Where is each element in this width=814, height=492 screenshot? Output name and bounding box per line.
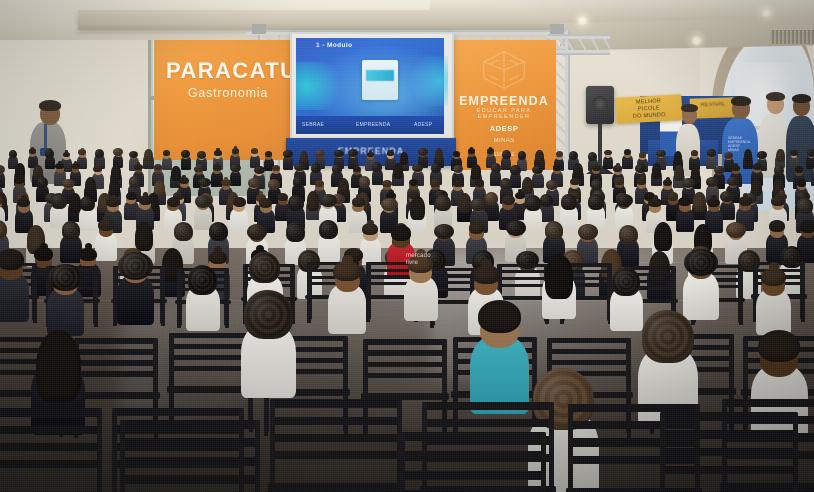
audience-hair [95,149,104,158]
chair-slat [74,371,158,376]
audience-hair [48,264,83,291]
audience-hair [458,193,470,213]
audience-hair [656,150,666,157]
audience-hair [639,152,646,158]
audience-hair [36,330,81,402]
audience-hair [612,267,640,296]
audience-hair [244,290,292,339]
audience-hair-bun [103,215,109,221]
audience-hair [561,194,577,210]
chair-slat [660,466,798,475]
audience-hair [578,224,598,240]
audience-hair [771,196,784,206]
audience-hair-bun [481,259,492,269]
audience-hair [410,196,425,220]
audience-hair-bun [666,177,670,181]
chair-slat [363,373,447,378]
chair-slat [547,349,631,354]
audience-hair-bun [653,195,658,200]
audience-hair [807,149,814,156]
audience-hair [288,195,304,211]
chair-slat [169,344,253,349]
audience-hair [319,220,338,239]
chair-slat [120,457,260,466]
jersey-text-line1: mercado [406,253,431,259]
chair-slat [400,471,546,480]
audience-hair [652,163,662,179]
audience-hair-bun [711,195,716,200]
audience-hair [381,198,398,211]
audience-hair [382,180,392,187]
audience-hair [209,222,228,241]
audience-hair [409,179,419,186]
audience-hair [469,222,485,234]
chair-leg [161,301,165,327]
audience-hair [487,148,494,153]
audience-hair [674,151,683,165]
audience-hair [188,265,217,295]
audience-hair [797,198,813,214]
audience-hair [693,192,705,212]
audience-hair-bun [21,195,26,200]
chair-slat [422,419,554,427]
chair-slat [112,408,244,416]
chair-slat [422,402,554,410]
audience-hair-bun [389,190,393,194]
audience-hair [510,165,520,175]
audience-hair [726,222,746,238]
audience-hair [359,176,370,188]
audience-hair [691,150,698,156]
chair [660,412,798,492]
audience-hair [654,222,672,251]
audience-hair [315,180,325,187]
audience-hair [518,151,527,160]
chair-post [400,432,405,492]
audience-hair [29,148,36,153]
audience-hair [332,164,342,174]
audience-hair [277,193,288,201]
audience-hair [334,150,344,157]
audience-hair [362,223,378,235]
audience-hair [478,300,521,333]
jersey-text-line2: livre [406,260,418,266]
chair-post [568,404,573,492]
audience-hair [254,166,265,175]
chair-leg [225,303,229,329]
audience-hair [790,150,797,156]
audience-hair [744,149,753,163]
audience-hair [338,178,349,196]
chair-slat [120,438,260,447]
audience-hair [545,254,573,299]
audience-hair [500,178,511,190]
audience-hair [758,330,800,362]
audience-hair [769,220,785,232]
audience-hair [502,195,515,205]
chair-slat [0,408,102,416]
audience-hair [525,195,541,211]
chair [0,408,102,492]
audience-hair [435,148,444,162]
audience-hair-bun [214,246,222,253]
chair-post [541,432,546,492]
chair-leg [94,301,98,327]
audience-hair [682,178,694,188]
audience-hair [540,194,553,207]
audience-hair-bun [682,194,687,199]
audience-hair [268,179,279,191]
audience-hair [795,166,804,173]
audience-hair [614,177,624,184]
audience-hair [753,163,762,170]
audience-hair [588,194,604,210]
chair-slat [270,451,402,459]
chair-slat [497,270,549,273]
audience-hair [51,193,67,209]
audience-hair [45,149,54,158]
audience-hair-bun [356,164,360,167]
chair-slat [660,448,798,457]
chair-post [660,412,665,492]
audience-hair [774,165,784,175]
audience-hair-bun [369,150,372,153]
audience-hair [471,164,481,180]
audience-hair [311,163,321,173]
audience-hair [181,150,191,157]
chair-post [112,408,117,492]
audience-hair [546,180,558,190]
chair-slat [660,412,798,421]
audience-hair [0,249,24,270]
chair-slat [363,362,447,367]
audience-hair [502,150,511,159]
audience-hair [588,152,597,161]
chair-slat [660,430,798,439]
audience-hair [800,220,814,232]
audience-hair [259,198,272,208]
audience-hair [315,150,325,157]
audience-hair [435,195,451,211]
audience-hair [668,192,679,200]
chair-slat [270,399,402,407]
audience-hair [470,198,487,211]
chair-slat [270,434,402,442]
chair-slat [169,333,253,338]
audience-hair [129,176,140,188]
audience-hair [286,222,305,241]
audience-hair [616,194,633,207]
audience-hair [135,222,153,251]
audience-hair [265,151,272,157]
audience-hair [0,165,5,174]
audience-hair [604,150,611,156]
chair-leg [264,393,268,435]
audience-hair [573,163,583,179]
audience-hair [453,180,463,187]
audience-hair [506,220,526,236]
audience-hair [553,164,562,171]
audience-hair-bun [256,245,264,252]
audience-hair [569,151,578,160]
audience-hair [635,164,646,173]
chair-leg [739,300,743,326]
audience-hair-bun [734,163,738,166]
chair-post [255,420,260,492]
audience-hair-bun [616,163,620,166]
chair-slat [722,399,814,407]
audience-hair [144,149,153,163]
audience-hair [757,151,767,158]
audience-hair [167,197,180,207]
audience-hair [393,163,403,179]
audience-hair [249,252,280,284]
audience-hair [619,225,638,244]
audience-hair [400,152,409,166]
jersey-sponsor-text: mercado livre [406,253,431,266]
audience-torso [532,173,544,189]
audience-hair [126,192,137,200]
audience-hair [233,197,246,207]
audience-hair-bun [96,164,100,167]
chair-slat [547,338,631,343]
audience-hair [491,163,501,173]
audience-torso [230,171,242,187]
chair-slat [270,417,402,425]
audience-hair-bun [40,243,48,250]
chair-slat [0,460,102,468]
chair-leg [307,297,311,323]
audience-hair [179,177,189,184]
chair-post [97,408,102,492]
audience-hair-bun [769,262,779,271]
chair-slat [0,443,102,451]
audience-hair [642,310,694,363]
audience-hair [431,163,441,173]
chair-leg [801,297,805,323]
chair-slat [497,264,549,267]
audience-hair [283,150,293,157]
chair-slat [74,349,158,354]
audience-hair [776,149,785,163]
audience-hair [545,221,564,240]
chair-slat [120,475,260,484]
seated-students [0,0,814,492]
audience-hair [62,179,74,189]
audience-hair [434,224,454,240]
audience-hair-bun [779,190,783,194]
photo-scene: PARACATU Gastronomia EMPREENDA EDUCAR PA… [0,0,814,492]
chair-post [549,402,554,492]
chair-slat [0,426,102,434]
audience-hair-bun [216,148,219,151]
audience-hair [320,194,337,207]
audience-hair [624,149,631,155]
audience-hair [714,166,725,175]
audience-hair [707,149,717,156]
chair-leg [177,303,181,329]
audience-hair [198,178,210,188]
audience-hair [300,151,309,165]
chair-slat [74,338,158,343]
chair [120,420,260,492]
audience-hair [430,179,440,186]
chair [400,432,546,492]
audience-hair [797,179,807,186]
audience-hair [197,151,207,158]
audience-hair [307,191,319,211]
chair-slat [120,420,260,429]
audience-hair [78,149,85,154]
audience-hair [418,148,428,155]
audience-hair [106,198,119,208]
audience-hair [485,192,498,205]
chair [270,399,402,492]
audience-hair-bun [342,255,353,265]
chair-slat [363,339,447,344]
audience-hair-bun [17,175,21,179]
audience-hair [248,178,260,188]
audience-hair [387,150,394,156]
audience-hair [468,148,475,153]
audience-hair [592,165,601,172]
audience-hair [221,179,231,186]
audience-hair [154,164,163,171]
chair-leg [33,297,37,323]
audience-hair [293,176,304,188]
chair-slat [497,284,549,287]
audience-hair [535,150,544,164]
audience-hair [475,179,485,186]
audience-hair [453,151,460,157]
audience-hair [118,252,153,279]
audience-hair [213,164,222,170]
chair-slat [568,404,700,412]
audience-hair [591,179,602,191]
audience-hair [556,151,563,157]
audience-hair [37,177,48,189]
audience-hair [85,177,96,195]
chair-slat [400,451,546,460]
audience-hair [247,224,267,240]
chair-post [120,420,125,492]
audience-hair [230,164,241,173]
audience-hair [174,222,193,241]
audience-hair [391,225,411,241]
audience-hair [706,177,718,187]
audience-hair-bun [197,164,201,167]
audience-hair [684,249,718,275]
chair-seat [72,392,160,399]
chair-post [793,412,798,492]
audience-hair [522,177,533,195]
audience-hair [62,221,81,240]
audience-hair [348,149,358,156]
chair-slat [363,350,447,355]
audience-hair [80,196,96,212]
chair-seat [268,483,404,492]
audience-hair [570,178,580,185]
chair-slat [74,360,158,365]
chair-post [270,399,275,492]
chair-leg [366,297,370,323]
chair-slat [497,277,549,280]
audience-hair [637,178,647,185]
chair-slat [547,360,631,365]
audience-hair [113,148,123,155]
chair-slat [400,432,546,441]
